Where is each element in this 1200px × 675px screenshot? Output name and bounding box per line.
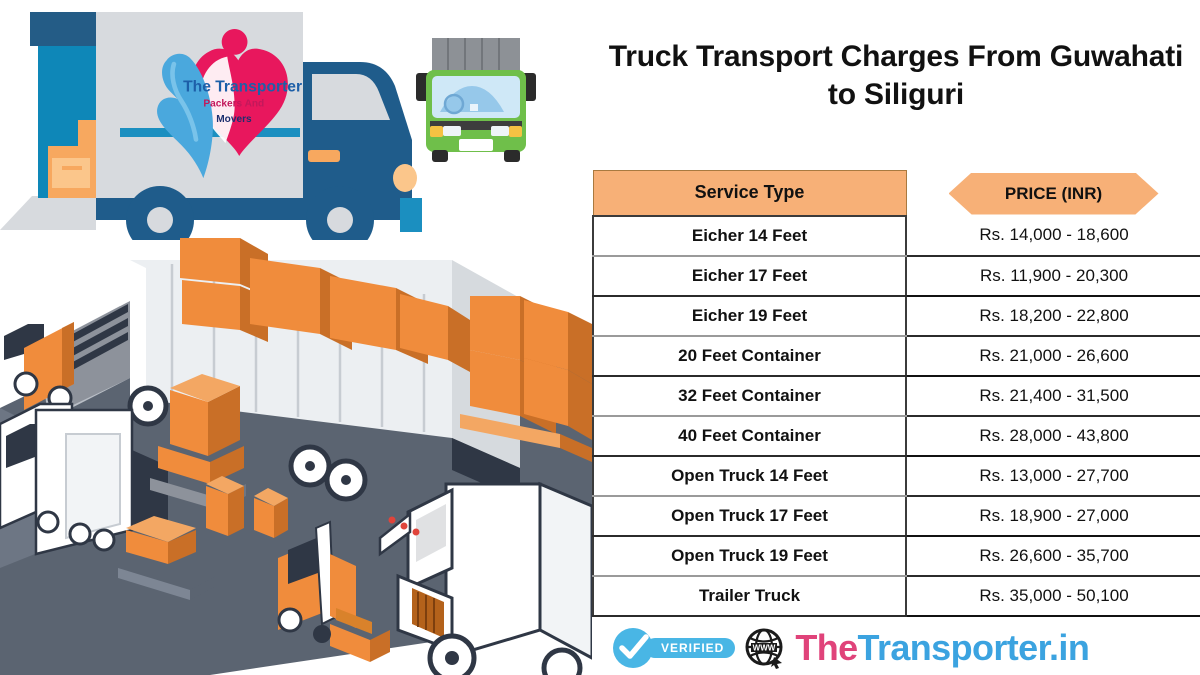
cell-price: Rs. 35,000 - 50,100: [906, 576, 1200, 616]
charges-table-body: Eicher 14 FeetRs. 14,000 - 18,600Eicher …: [593, 216, 1200, 616]
cell-service-type: Eicher 17 Feet: [593, 256, 906, 296]
brand-name-transporter: Transporter.in: [858, 627, 1090, 668]
globe-www-label: WWW: [753, 644, 776, 653]
cell-price: Rs. 14,000 - 18,600: [906, 216, 1200, 256]
cell-service-type: Open Truck 17 Feet: [593, 496, 906, 536]
globe-www-icon: WWW: [744, 627, 786, 669]
table-row: 32 Feet ContainerRs. 21,400 - 31,500: [593, 376, 1200, 416]
header-price-cell: PRICE (INR): [906, 171, 1200, 216]
page-title: Truck Transport Charges From Guwahati to…: [596, 38, 1196, 114]
verified-label: VERIFIED: [645, 638, 735, 658]
header-service-type: Service Type: [593, 171, 906, 216]
cell-price: Rs. 11,900 - 20,300: [906, 256, 1200, 296]
cell-service-type: 40 Feet Container: [593, 416, 906, 456]
table-row: Eicher 17 FeetRs. 11,900 - 20,300: [593, 256, 1200, 296]
brand-name-the: The: [795, 627, 857, 668]
cell-service-type: 20 Feet Container: [593, 336, 906, 376]
cell-price: Rs. 21,000 - 26,600: [906, 336, 1200, 376]
cell-price: Rs. 18,900 - 27,000: [906, 496, 1200, 536]
cell-price: Rs. 26,600 - 35,700: [906, 536, 1200, 576]
brand-name: TheTransporter.in: [795, 627, 1089, 669]
cell-price: Rs. 28,000 - 43,800: [906, 416, 1200, 456]
header-price-hexagon: PRICE (INR): [949, 173, 1159, 215]
cell-service-type: Eicher 19 Feet: [593, 296, 906, 336]
orange-truck: [0, 322, 74, 410]
cell-service-type: Open Truck 14 Feet: [593, 456, 906, 496]
table-row: Open Truck 19 FeetRs. 26,600 - 35,700: [593, 536, 1200, 576]
cell-price: Rs. 13,000 - 27,700: [906, 456, 1200, 496]
table-row: 20 Feet ContainerRs. 21,000 - 26,600: [593, 336, 1200, 376]
cell-service-type: 32 Feet Container: [593, 376, 906, 416]
cell-service-type: Trailer Truck: [593, 576, 906, 616]
cell-service-type: Open Truck 19 Feet: [593, 536, 906, 576]
table-header-row: Service Type PRICE (INR): [593, 171, 1200, 216]
logo-line1: The Transporter: [183, 79, 302, 96]
moving-truck-illustration: The Transporter Packers And Movers: [0, 0, 580, 240]
semi-tractor: [380, 484, 592, 675]
table-row: 40 Feet ContainerRs. 28,000 - 43,800: [593, 416, 1200, 456]
green-truck-icon: [416, 38, 536, 162]
cell-price: Rs. 18,200 - 22,800: [906, 296, 1200, 336]
table-row: Eicher 19 FeetRs. 18,200 - 22,800: [593, 296, 1200, 336]
charges-table: Service Type PRICE (INR) Eicher 14 FeetR…: [592, 170, 1200, 617]
verified-badge: VERIFIED: [612, 626, 735, 670]
logistics-warehouse-illustration: [0, 238, 592, 675]
table-row: Open Truck 14 FeetRs. 13,000 - 27,700: [593, 456, 1200, 496]
logo-line2: Packers And: [203, 98, 264, 109]
charges-table-wrapper: Service Type PRICE (INR) Eicher 14 FeetR…: [592, 170, 1200, 622]
table-row: Eicher 14 FeetRs. 14,000 - 18,600: [593, 216, 1200, 256]
table-row: Open Truck 17 FeetRs. 18,900 - 27,000: [593, 496, 1200, 536]
cell-price: Rs. 21,400 - 31,500: [906, 376, 1200, 416]
logo-line3: Movers: [216, 114, 252, 125]
cell-service-type: Eicher 14 Feet: [593, 216, 906, 256]
brand-footer: VERIFIED WWW TheTransporter.in: [612, 624, 1200, 672]
infographic-page: The Transporter Packers And Movers: [0, 0, 1200, 675]
table-row: Trailer TruckRs. 35,000 - 50,100: [593, 576, 1200, 616]
